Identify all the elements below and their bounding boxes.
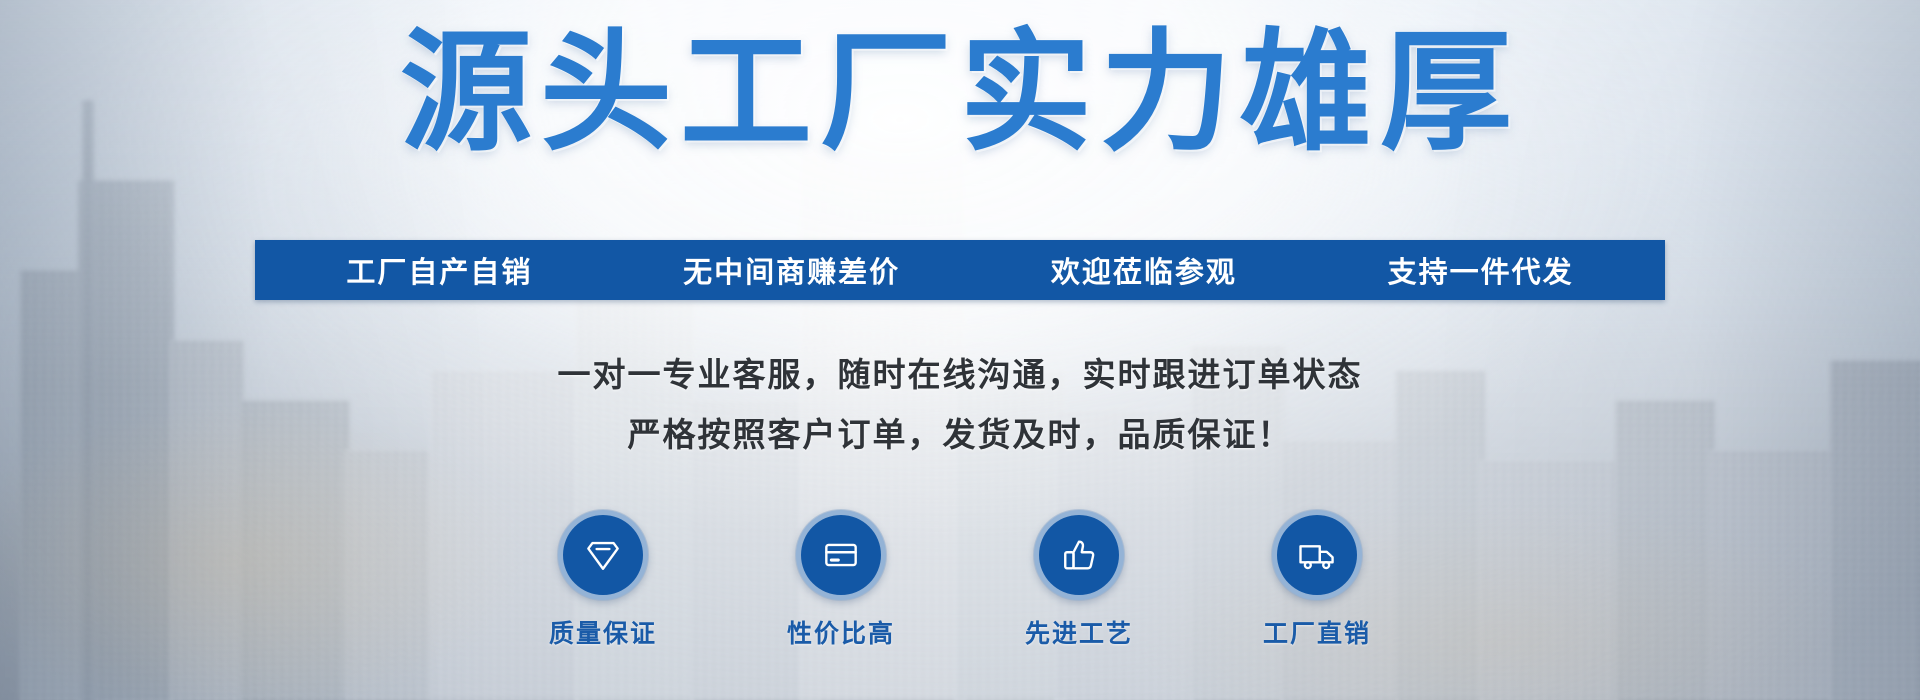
promo-banner: 源头工厂实力雄厚 工厂自产自销 无中间商赚差价 欢迎莅临参观 支持一件代发 一对… — [0, 0, 1920, 700]
feature-label: 质量保证 — [528, 614, 678, 650]
headline-title: 源头工厂实力雄厚 — [0, 18, 1920, 168]
feature-item-quality: 质量保证 — [528, 510, 678, 650]
banner-content: 源头工厂实力雄厚 工厂自产自销 无中间商赚差价 欢迎莅临参观 支持一件代发 一对… — [0, 0, 1920, 700]
feature-icon-circle — [1272, 510, 1362, 600]
ribbon-item-3: 支持一件代发 — [1388, 249, 1574, 291]
diamond-icon — [581, 533, 625, 577]
ribbon-item-2: 欢迎莅临参观 — [1051, 249, 1237, 291]
subtitle-line-2: 严格按照客户订单，发货及时，品质保证！ — [0, 408, 1920, 456]
feature-item-direct-sale: 工厂直销 — [1242, 510, 1392, 650]
feature-label: 性价比高 — [766, 614, 916, 650]
subtitle-line-1: 一对一专业客服，随时在线沟通，实时跟进订单状态 — [0, 348, 1920, 396]
feature-icon-circle — [796, 510, 886, 600]
feature-label: 工厂直销 — [1242, 614, 1392, 650]
feature-icon-row: 质量保证 性价比高 — [0, 510, 1920, 650]
ribbon-item-0: 工厂自产自销 — [346, 249, 532, 291]
feature-label: 先进工艺 — [1004, 614, 1154, 650]
feature-item-craft: 先进工艺 — [1004, 510, 1154, 650]
feature-ribbon: 工厂自产自销 无中间商赚差价 欢迎莅临参观 支持一件代发 — [255, 240, 1665, 300]
feature-icon-circle — [558, 510, 648, 600]
ribbon-item-1: 无中间商赚差价 — [683, 249, 900, 291]
credit-card-icon — [819, 533, 863, 577]
delivery-truck-icon — [1295, 533, 1339, 577]
thumbs-up-icon — [1057, 533, 1101, 577]
feature-icon-circle — [1034, 510, 1124, 600]
feature-item-price: 性价比高 — [766, 510, 916, 650]
